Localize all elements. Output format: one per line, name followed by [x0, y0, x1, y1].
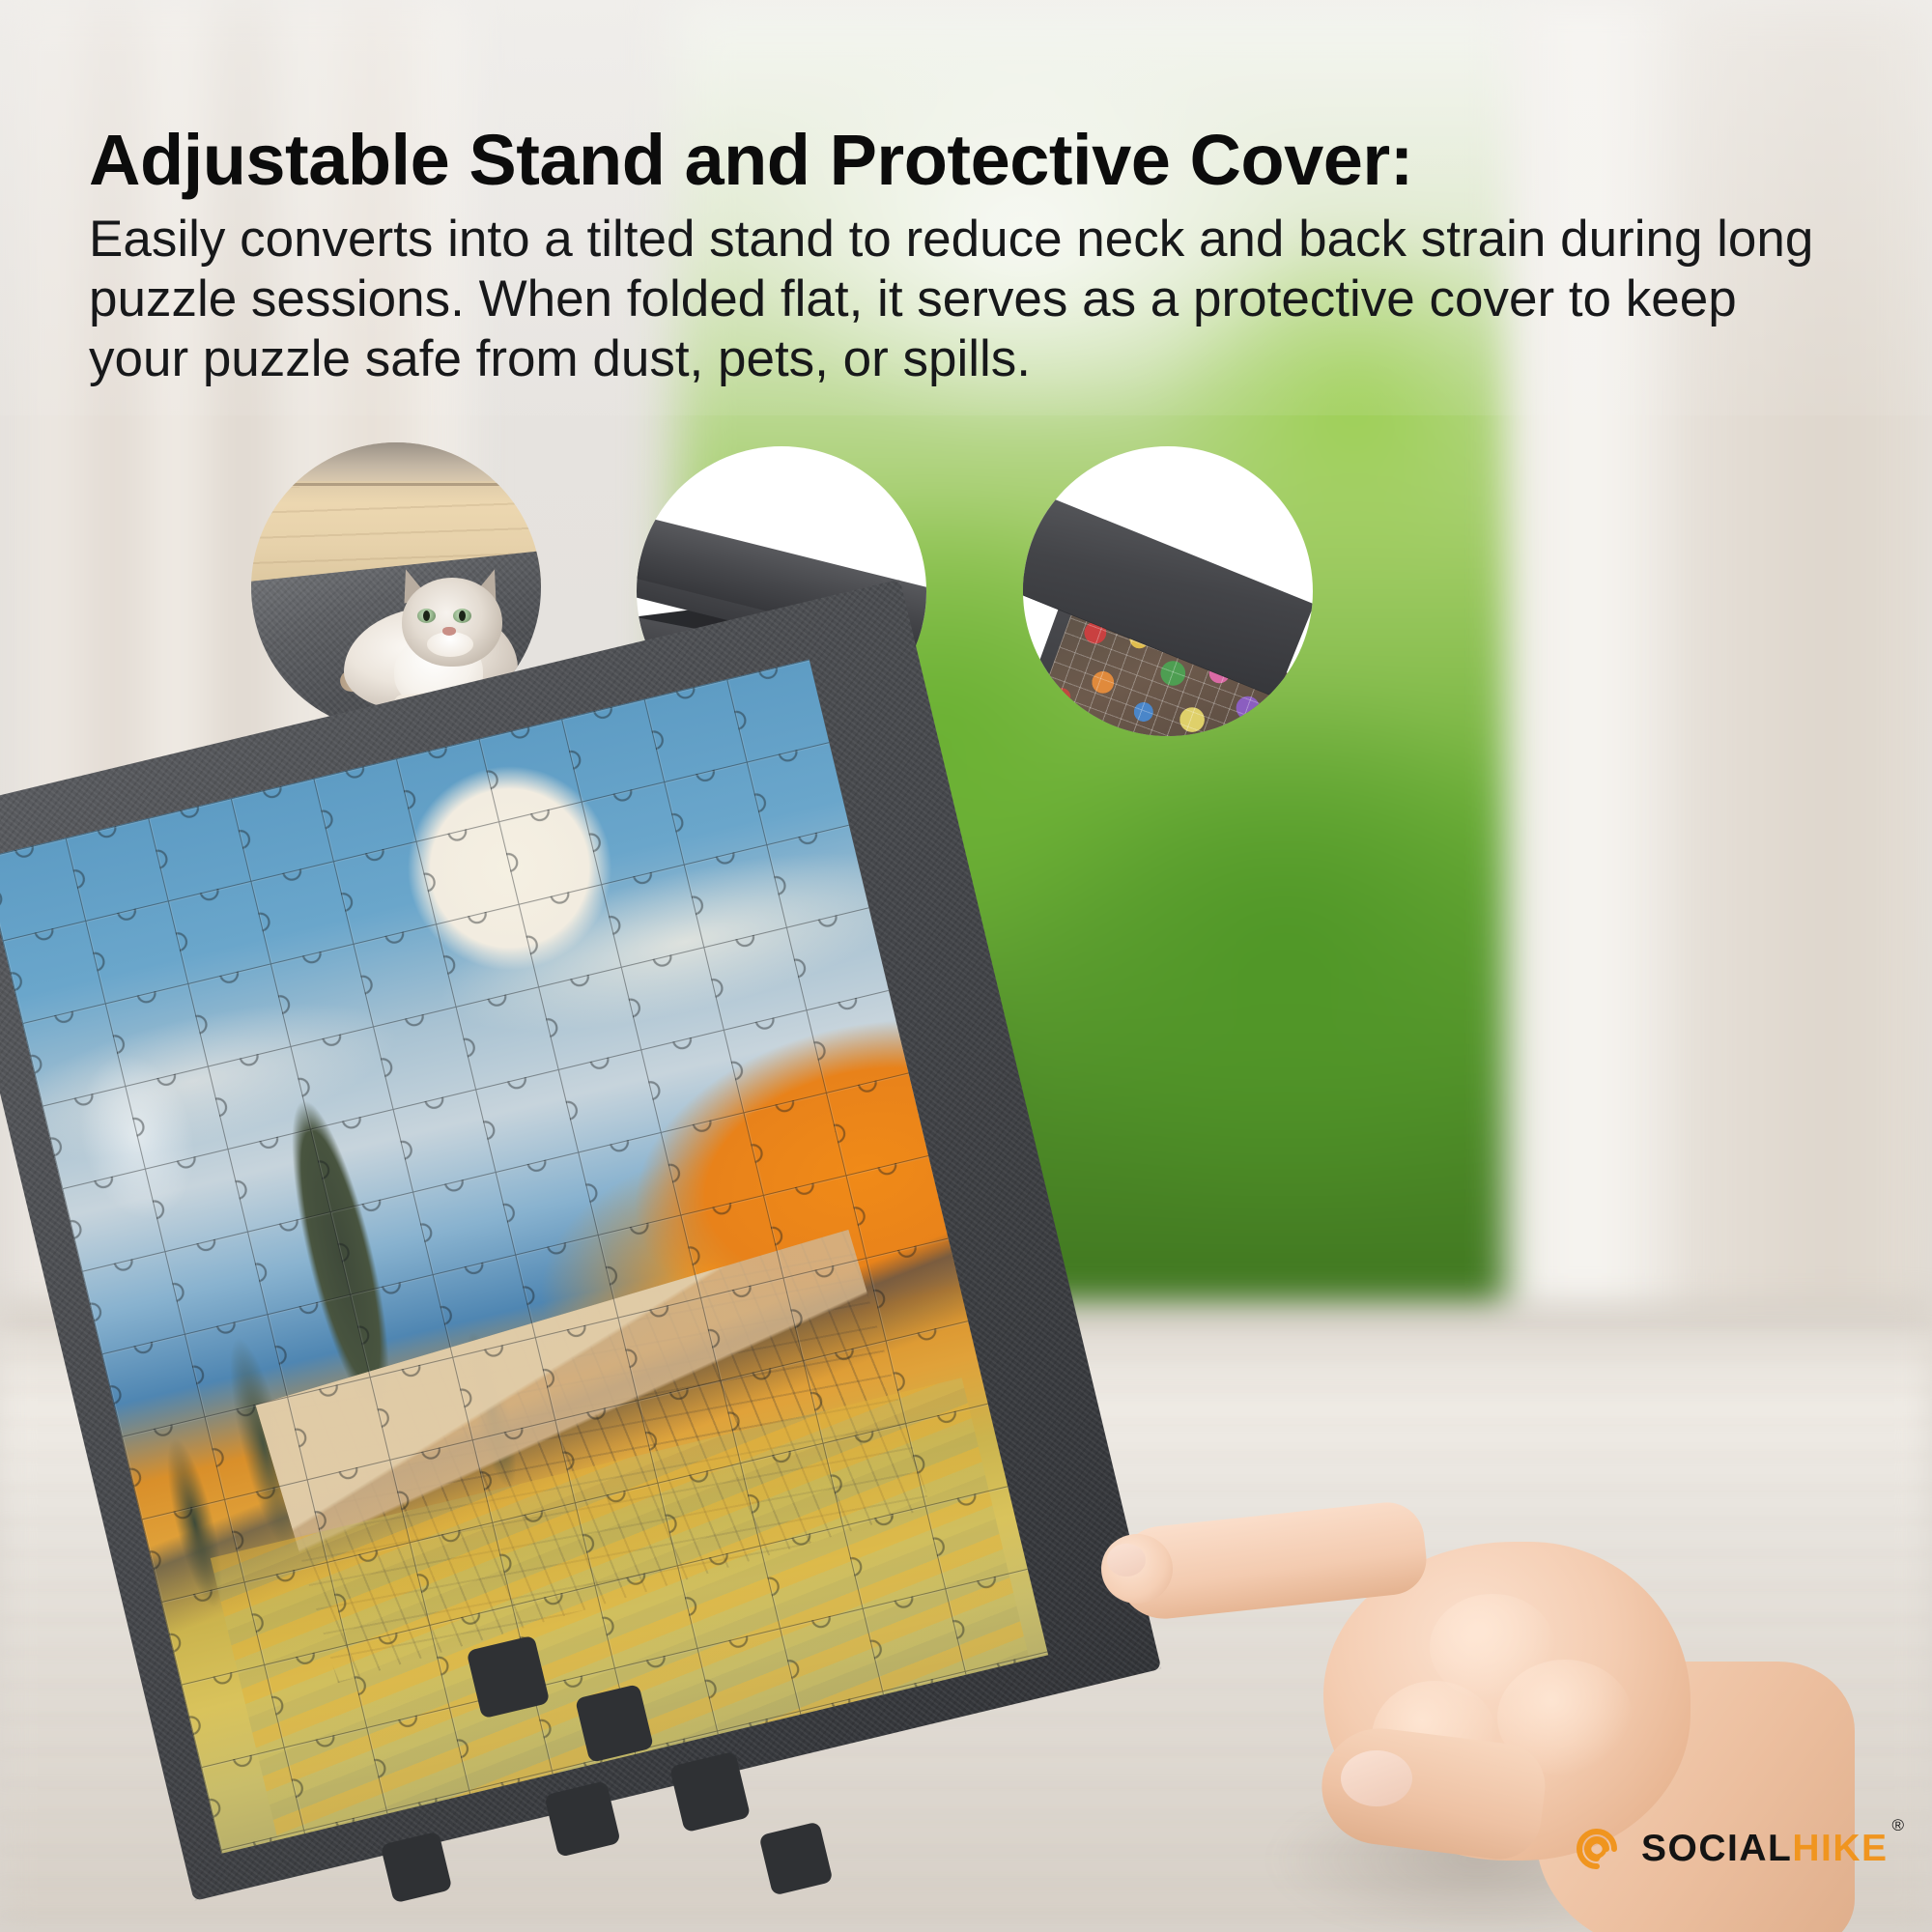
- spiral-s-icon: [1570, 1822, 1624, 1876]
- registered-trademark-icon: ®: [1892, 1816, 1905, 1835]
- header-block: Adjustable Stand and Protective Cover: E…: [89, 124, 1857, 389]
- infographic-canvas: Adjustable Stand and Protective Cover: E…: [0, 0, 1932, 1932]
- brand-logo: SOCIAL HIKE ®: [1570, 1822, 1904, 1876]
- logo-secondary-text: HIKE: [1792, 1828, 1888, 1870]
- page-title: Adjustable Stand and Protective Cover:: [89, 124, 1857, 196]
- feature-circle-cover-over-puzzle: [1023, 446, 1313, 736]
- thumb-nail: [1341, 1750, 1412, 1806]
- hero-puzzle-board: [0, 811, 1014, 1932]
- logo-primary-text: SOCIAL: [1641, 1828, 1792, 1870]
- page-description: Easily converts into a tilted stand to r…: [89, 210, 1837, 389]
- cat-pupil-left: [423, 611, 430, 621]
- cat-nose: [442, 627, 456, 636]
- logo-wordmark: SOCIAL HIKE ®: [1641, 1828, 1904, 1870]
- index-fingernail: [1107, 1544, 1146, 1577]
- puzzle-gap: [381, 1832, 453, 1904]
- wood-backdrop-top: [251, 442, 541, 481]
- puzzle-gap: [758, 1821, 833, 1895]
- wood-seam: [251, 483, 541, 486]
- cat-pupil-right: [459, 611, 466, 621]
